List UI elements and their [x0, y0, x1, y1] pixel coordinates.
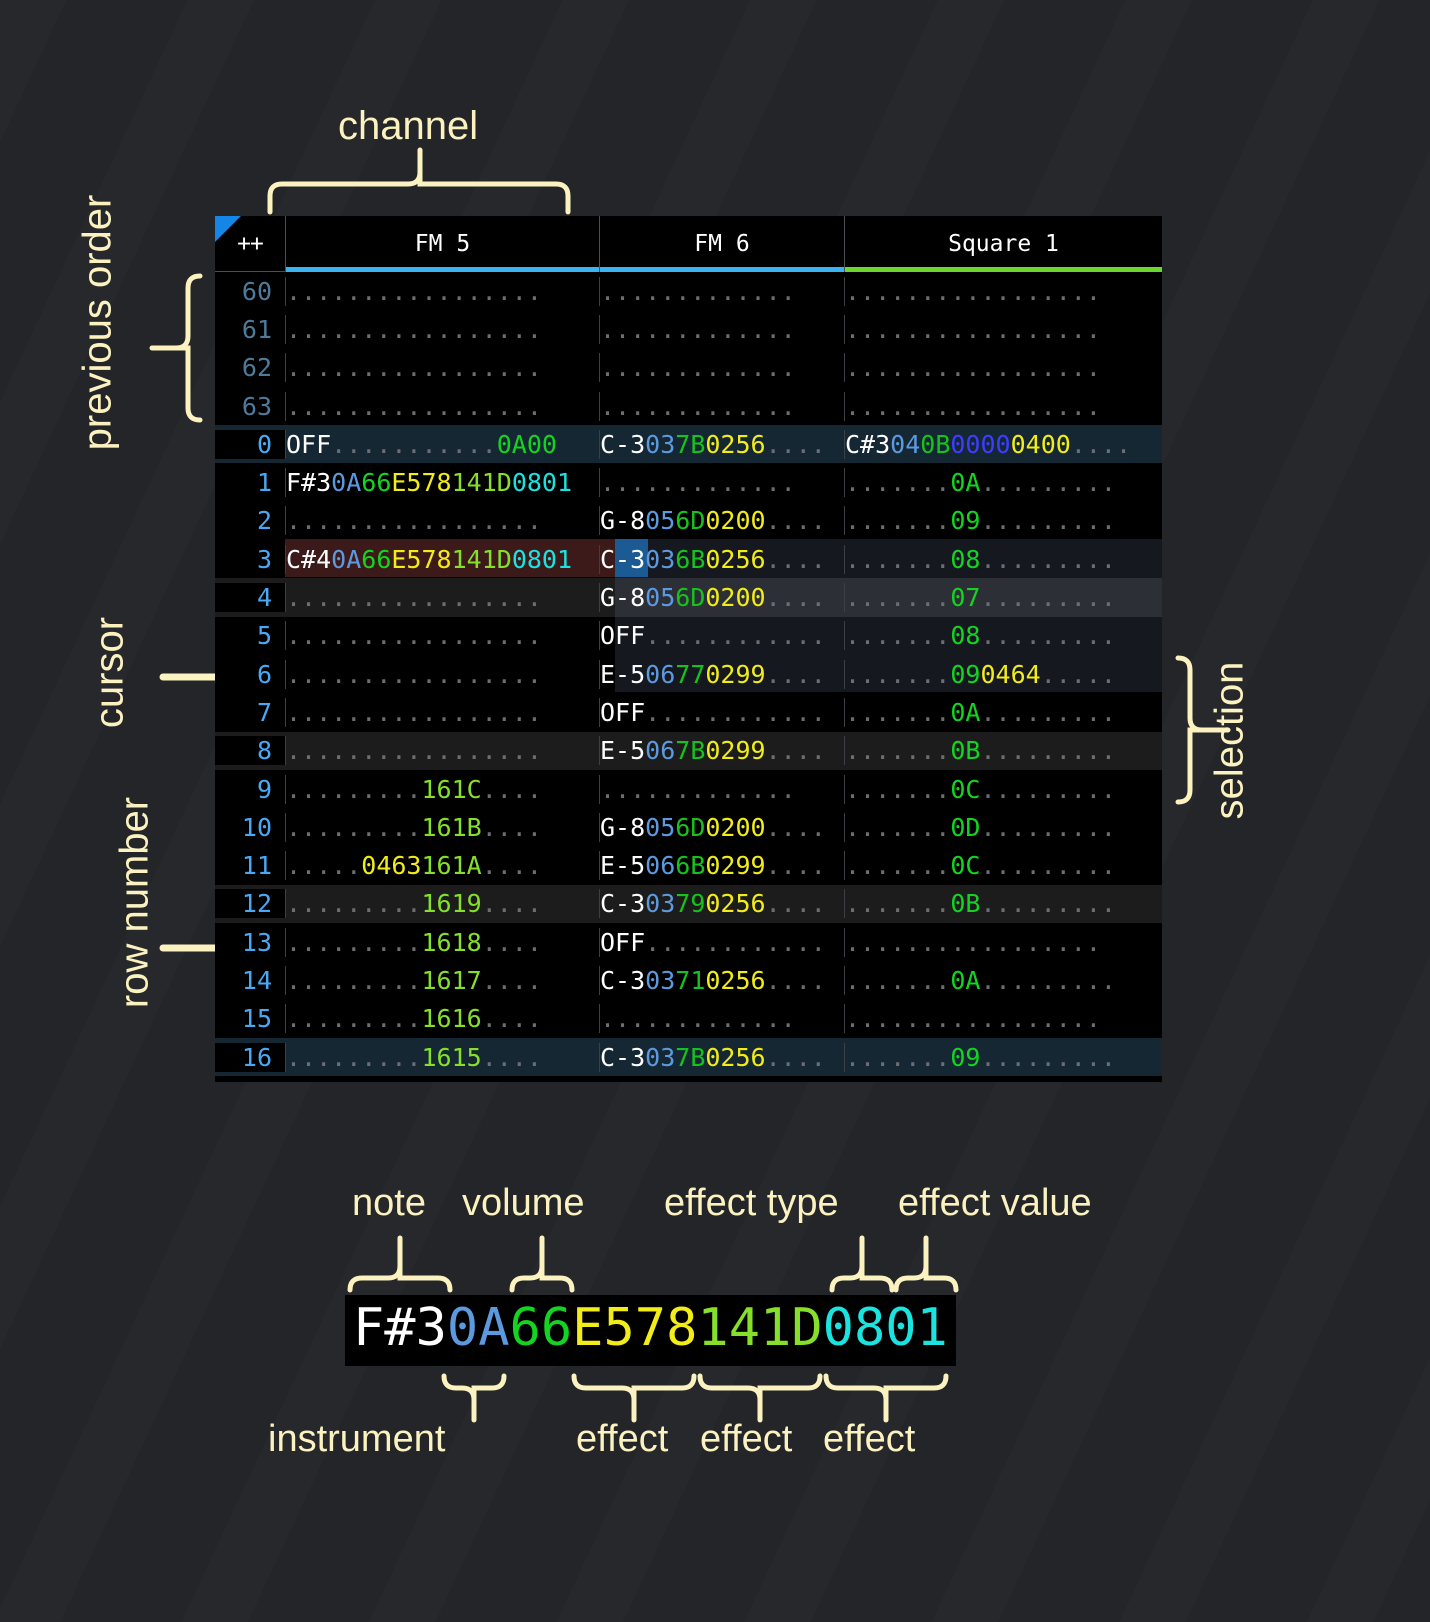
pattern-segment: E578 — [391, 545, 451, 574]
pattern-segment: ......... — [980, 506, 1115, 535]
channel-name-label: FM 6 — [694, 231, 749, 257]
empty-cell-dots: ................. — [286, 736, 542, 765]
pattern-cell[interactable]: ................. — [844, 392, 1162, 421]
pattern-segment: 06 — [645, 851, 675, 880]
pattern-segment: E-5 — [600, 660, 645, 689]
legend-volume: 66 — [510, 1298, 573, 1358]
empty-cell-dots: ................. — [845, 277, 1101, 306]
pattern-cell[interactable]: C-303710256.... — [599, 966, 844, 995]
pattern-segment: .... — [766, 736, 826, 765]
pattern-segment: OFF — [286, 430, 331, 459]
pattern-segment: ....... — [845, 545, 950, 574]
pattern-cell[interactable]: .....0463161A.... — [285, 851, 599, 880]
empty-cell-dots: ................. — [286, 392, 542, 421]
pattern-cell[interactable]: OFF............ — [599, 621, 844, 650]
pattern-row[interactable]: 9.........161C........................0C… — [215, 770, 1162, 808]
pattern-cell[interactable]: .........1618.... — [285, 928, 599, 957]
pattern-segment: .... — [766, 813, 826, 842]
empty-cell-dots: ................. — [286, 353, 542, 382]
channel-header-square1[interactable]: Square 1 — [844, 216, 1162, 272]
pattern-segment: C-3 — [600, 545, 645, 574]
row-number: 5 — [215, 621, 285, 650]
row-number: 62 — [215, 353, 285, 382]
empty-cell-dots: ................. — [286, 660, 542, 689]
pattern-cell[interactable]: OFF............ — [599, 928, 844, 957]
pattern-segment: 0200 — [705, 583, 765, 612]
row-number: 2 — [215, 506, 285, 535]
pattern-cell[interactable]: ................. — [844, 315, 1162, 344]
pattern-segment: 77 — [675, 660, 705, 689]
pattern-segment: 0C — [950, 851, 980, 880]
pattern-segment: ......... — [286, 775, 421, 804]
pattern-segment: 0A — [331, 545, 361, 574]
pattern-segment: 1617 — [421, 966, 481, 995]
pattern-segment: .... — [766, 1043, 826, 1072]
empty-cell-dots: ................. — [845, 1004, 1101, 1033]
pattern-segment: 0B — [950, 736, 980, 765]
pattern-segment: 1616 — [421, 1004, 481, 1033]
pattern-cell[interactable]: C#40A66E578141D0801 — [285, 545, 599, 574]
pattern-row[interactable]: 63......................................… — [215, 387, 1162, 425]
pattern-row[interactable]: 60......................................… — [215, 272, 1162, 310]
pattern-segment: 0A — [950, 966, 980, 995]
pattern-segment: C-3 — [600, 966, 645, 995]
row-number: 16 — [215, 1043, 285, 1072]
pattern-cell[interactable]: C-3036B0256.... — [599, 545, 844, 574]
annotation-selection: selection — [1208, 641, 1253, 841]
pattern-segment: .... — [766, 506, 826, 535]
pattern-segment: 09 — [950, 506, 980, 535]
pattern-cell[interactable]: E-5067B0299.... — [599, 736, 844, 765]
pattern-cell[interactable]: ............. — [599, 775, 844, 804]
row-number: 1 — [215, 468, 285, 497]
pattern-cell[interactable]: C-3037B0256.... — [599, 430, 844, 459]
pattern-segment: 0000 — [950, 430, 1010, 459]
pattern-segment: ......... — [980, 813, 1115, 842]
pattern-cell[interactable]: .......0A......... — [844, 698, 1162, 727]
pattern-segment: 05 — [645, 813, 675, 842]
pattern-row[interactable]: 12.........1619....C-303790256..........… — [215, 885, 1162, 923]
corner-triangle-icon — [215, 216, 241, 242]
pattern-cell[interactable]: ............. — [599, 392, 844, 421]
pattern-cell[interactable]: ................. — [285, 506, 599, 535]
pattern-segment: 07 — [950, 583, 980, 612]
pattern-cell[interactable]: OFF...........0A00 — [285, 430, 599, 459]
pattern-cell[interactable]: .........161B.... — [285, 813, 599, 842]
pattern-segment: ......... — [980, 966, 1115, 995]
legend-note: F#3 — [353, 1298, 447, 1358]
pattern-segment: 05 — [645, 506, 675, 535]
pattern-segment: 0801 — [512, 545, 572, 574]
pattern-segment: ......... — [286, 1043, 421, 1072]
pattern-segment: OFF — [600, 928, 645, 957]
row-number: 10 — [215, 813, 285, 842]
pattern-segment: .... — [482, 1043, 542, 1072]
pattern-segment: 03 — [645, 966, 675, 995]
pattern-row[interactable]: 11.....0463161A....E-5066B0299..........… — [215, 846, 1162, 884]
pattern-row[interactable]: 2.................G-8056D0200...........… — [215, 502, 1162, 540]
pattern-segment: ......... — [980, 851, 1115, 880]
pattern-cell[interactable]: C-303790256.... — [599, 889, 844, 918]
legend-effect-3: 0801 — [823, 1298, 948, 1358]
pattern-row[interactable]: 8.................E-5067B0299...........… — [215, 732, 1162, 770]
pattern-cell[interactable]: C#3040B00000400.... — [844, 430, 1162, 459]
pattern-segment: 71 — [675, 966, 705, 995]
pattern-segment: 08 — [950, 621, 980, 650]
pattern-cell[interactable]: ................. — [844, 1004, 1162, 1033]
pattern-segment: 66 — [361, 545, 391, 574]
pattern-segment: ....... — [845, 775, 950, 804]
pattern-segment: 03 — [645, 430, 675, 459]
pattern-segment: .... — [766, 545, 826, 574]
pattern-cell[interactable]: .......0B......... — [844, 889, 1162, 918]
pattern-cell[interactable]: ................. — [844, 928, 1162, 957]
annotation-effect-type: effect type — [664, 1182, 839, 1225]
pattern-segment: ......... — [980, 1043, 1115, 1072]
pattern-cell[interactable]: .........1619.... — [285, 889, 599, 918]
pattern-cell[interactable]: .......0D......... — [844, 813, 1162, 842]
pattern-segment: ......... — [286, 1004, 421, 1033]
pattern-segment: ....... — [845, 813, 950, 842]
pattern-segment: ..... — [1041, 660, 1116, 689]
pattern-segment: 0200 — [705, 506, 765, 535]
pattern-segment: 03 — [645, 1043, 675, 1072]
pattern-segment: .... — [766, 851, 826, 880]
pattern-segment: 0299 — [705, 660, 765, 689]
pattern-segment: 0A — [950, 698, 980, 727]
empty-cell-dots: ................. — [286, 621, 542, 650]
pattern-cell[interactable]: ................. — [285, 698, 599, 727]
pattern-segment: ....... — [845, 506, 950, 535]
pattern-segment: E-5 — [600, 851, 645, 880]
pattern-segment: ....... — [845, 621, 950, 650]
pattern-segment: 09 — [950, 660, 980, 689]
legend-example-row: F#30A66E578141D0801 — [345, 1295, 956, 1366]
row-number: 60 — [215, 277, 285, 306]
pattern-cell[interactable]: G-8056D0200.... — [599, 506, 844, 535]
pattern-segment: E578 — [391, 468, 451, 497]
pattern-segment: 0256 — [705, 889, 765, 918]
pattern-cell[interactable]: ................. — [285, 736, 599, 765]
annotation-effect-3: effect — [823, 1418, 915, 1461]
pattern-row[interactable]: 0OFF...........0A00C-3037B0256....C#3040… — [215, 425, 1162, 463]
pattern-segment: ....... — [845, 583, 950, 612]
pattern-segment: 0D — [950, 813, 980, 842]
pattern-cell[interactable]: ............. — [599, 468, 844, 497]
pattern-segment: OFF — [600, 621, 645, 650]
pattern-segment: ....... — [845, 889, 950, 918]
pattern-row[interactable]: 62......................................… — [215, 349, 1162, 387]
pattern-cell[interactable]: .......0A......... — [844, 468, 1162, 497]
pattern-segment: ........... — [331, 430, 497, 459]
pattern-segment: .... — [482, 928, 542, 957]
pattern-segment: 0A — [331, 468, 361, 497]
row-number: 11 — [215, 851, 285, 880]
legend-instrument: 0A — [447, 1298, 510, 1358]
pattern-segment: ............ — [645, 698, 826, 727]
pattern-segment: C-3 — [600, 430, 645, 459]
pattern-segment: 6D — [675, 583, 705, 612]
pattern-segment: ............ — [645, 621, 826, 650]
pattern-segment: ....... — [845, 966, 950, 995]
pattern-segment: .... — [482, 889, 542, 918]
pattern-segment: 0A — [950, 468, 980, 497]
pattern-cell[interactable]: .........161C.... — [285, 775, 599, 804]
pattern-cell[interactable]: ................. — [285, 660, 599, 689]
empty-cell-dots: ............. — [600, 353, 796, 382]
annotation-channel: channel — [338, 104, 478, 149]
pattern-row[interactable]: 16.........1615....C-3037B0256..........… — [215, 1038, 1162, 1076]
row-number: 6 — [215, 660, 285, 689]
pattern-row[interactable]: 13.........1618....OFF..................… — [215, 923, 1162, 961]
pattern-segment: .... — [482, 813, 542, 842]
pattern-segment: OFF — [600, 698, 645, 727]
pattern-segment: ..... — [286, 851, 361, 880]
pattern-segment: 0256 — [705, 545, 765, 574]
pattern-segment: 08 — [950, 545, 980, 574]
pattern-segment: G-8 — [600, 583, 645, 612]
pattern-segment: 0256 — [705, 966, 765, 995]
pattern-cell[interactable]: .........1615.... — [285, 1043, 599, 1072]
pattern-cell[interactable]: ................. — [844, 277, 1162, 306]
pattern-segment: C-3 — [600, 889, 645, 918]
pattern-segment: ....... — [845, 851, 950, 880]
pattern-cell[interactable]: ................. — [285, 353, 599, 382]
pattern-cell[interactable]: .......0A......... — [844, 966, 1162, 995]
pattern-segment: 03 — [645, 889, 675, 918]
row-number: 13 — [215, 928, 285, 957]
pattern-segment: 0B — [920, 430, 950, 459]
empty-cell-dots: ............. — [600, 277, 796, 306]
pattern-cell[interactable]: .......09......... — [844, 506, 1162, 535]
row-number: 15 — [215, 1004, 285, 1033]
row-number: 8 — [215, 736, 285, 765]
pattern-cell[interactable]: ................. — [285, 315, 599, 344]
pattern-segment: .... — [766, 430, 826, 459]
pattern-segment: 79 — [675, 889, 705, 918]
pattern-segment: 0299 — [705, 851, 765, 880]
pattern-cell[interactable]: ................. — [285, 583, 599, 612]
pattern-segment: .... — [766, 889, 826, 918]
annotation-effect-2: effect — [700, 1418, 792, 1461]
pattern-segment: ......... — [980, 468, 1115, 497]
pattern-cell[interactable]: ................. — [285, 621, 599, 650]
pattern-segment: 0801 — [512, 468, 572, 497]
pattern-segment: ....... — [845, 736, 950, 765]
row-number: 9 — [215, 775, 285, 804]
empty-cell-dots: ............. — [600, 775, 796, 804]
pattern-segment: 7B — [675, 736, 705, 765]
pattern-segment: E-5 — [600, 736, 645, 765]
pattern-segment: ......... — [980, 889, 1115, 918]
pattern-segment: 0463 — [361, 851, 421, 880]
empty-cell-dots: ............. — [600, 1004, 796, 1033]
channel-header-fm5[interactable]: FM 5 — [285, 216, 599, 272]
pattern-cell[interactable]: .........1616.... — [285, 1004, 599, 1033]
pattern-segment: 0256 — [705, 430, 765, 459]
pattern-cell[interactable]: G-8056D0200.... — [599, 813, 844, 842]
pattern-cell[interactable]: OFF............ — [599, 698, 844, 727]
pattern-cell[interactable]: .......0C......... — [844, 851, 1162, 880]
empty-cell-dots: ............. — [600, 315, 796, 344]
pattern-segment: F#3 — [286, 468, 331, 497]
pattern-segment: ....... — [845, 660, 950, 689]
row-number: 12 — [215, 889, 285, 918]
pattern-segment: 7B — [675, 1043, 705, 1072]
pattern-segment: ......... — [980, 583, 1115, 612]
pattern-cell[interactable]: E-5066B0299.... — [599, 851, 844, 880]
pattern-segment: .... — [482, 851, 542, 880]
pattern-segment: ......... — [286, 966, 421, 995]
pattern-segment: .... — [482, 966, 542, 995]
annotation-previous-order: previous order — [76, 163, 121, 483]
pattern-row[interactable]: 15.........1616.........................… — [215, 1000, 1162, 1038]
annotation-instrument: instrument — [268, 1418, 445, 1461]
pattern-segment: ............ — [645, 928, 826, 957]
order-corner-cell[interactable]: ++ — [215, 216, 285, 272]
pattern-cell[interactable]: C-3037B0256.... — [599, 1043, 844, 1072]
pattern-row[interactable]: 14.........1617....C-303710256..........… — [215, 961, 1162, 999]
row-number: 0 — [215, 430, 285, 459]
pattern-cell[interactable]: .......08......... — [844, 545, 1162, 574]
pattern-segment: 0400 — [1011, 430, 1071, 459]
annotation-cursor: cursor — [88, 593, 133, 753]
row-number: 7 — [215, 698, 285, 727]
pattern-cell[interactable]: .........1617.... — [285, 966, 599, 995]
pattern-cell[interactable]: .......090464..... — [844, 660, 1162, 689]
empty-cell-dots: ................. — [845, 353, 1101, 382]
legend-effect-2: 141D — [697, 1298, 822, 1358]
pattern-segment: C#4 — [286, 545, 331, 574]
empty-cell-dots: ................. — [845, 315, 1101, 344]
pattern-cell[interactable]: ............. — [599, 1004, 844, 1033]
legend-effect-1: E578 — [572, 1298, 697, 1358]
pattern-cell[interactable]: ............. — [599, 315, 844, 344]
pattern-segment: .... — [766, 583, 826, 612]
pattern-cell[interactable]: .......07......... — [844, 583, 1162, 612]
pattern-segment: 0256 — [705, 1043, 765, 1072]
pattern-segment: .... — [482, 1004, 542, 1033]
pattern-segment: 1618 — [421, 928, 481, 957]
pattern-segment: ......... — [980, 736, 1115, 765]
pattern-segment: 6D — [675, 506, 705, 535]
pattern-segment: ......... — [980, 698, 1115, 727]
pattern-cell[interactable]: E-506770299.... — [599, 660, 844, 689]
empty-cell-dots: ................. — [286, 315, 542, 344]
empty-cell-dots: ................. — [845, 392, 1101, 421]
row-number: 3 — [215, 545, 285, 574]
pattern-segment: 66 — [361, 468, 391, 497]
channel-name-label: Square 1 — [948, 231, 1059, 257]
pattern-row[interactable]: 6.................E-506770299...........… — [215, 655, 1162, 693]
pattern-segment: 6B — [675, 851, 705, 880]
pattern-grid[interactable]: 60......................................… — [215, 272, 1162, 1076]
pattern-row[interactable]: 1F#30A66E578141D0801....................… — [215, 463, 1162, 501]
empty-cell-dots: ................. — [286, 583, 542, 612]
pattern-segment: 0299 — [705, 736, 765, 765]
pattern-segment: 7B — [675, 430, 705, 459]
pattern-cell[interactable]: ................. — [285, 392, 599, 421]
pattern-row[interactable]: 7.................OFF...................… — [215, 693, 1162, 731]
pattern-cell[interactable]: .......0C......... — [844, 775, 1162, 804]
pattern-segment: 04 — [890, 430, 920, 459]
pattern-cell[interactable]: ............. — [599, 277, 844, 306]
annotation-effect-1: effect — [576, 1418, 668, 1461]
pattern-segment: 0C — [950, 775, 980, 804]
empty-cell-dots: ............. — [600, 392, 796, 421]
pattern-segment: ....... — [845, 698, 950, 727]
pattern-segment: 06 — [645, 736, 675, 765]
pattern-segment: 6D — [675, 813, 705, 842]
pattern-segment: .... — [766, 966, 826, 995]
pattern-segment: 03 — [645, 545, 675, 574]
pattern-segment: 161C — [421, 775, 481, 804]
annotation-note: note — [352, 1182, 426, 1225]
pattern-cell[interactable]: G-8056D0200.... — [599, 583, 844, 612]
channel-header-fm6[interactable]: FM 6 — [599, 216, 844, 272]
pattern-segment: .... — [766, 660, 826, 689]
pattern-segment: .... — [482, 775, 542, 804]
annotation-row-number: row number — [113, 763, 158, 1043]
pattern-cell[interactable]: F#30A66E578141D0801 — [285, 468, 599, 497]
pattern-segment: ......... — [980, 545, 1115, 574]
pattern-cell[interactable]: .......09......... — [844, 1043, 1162, 1072]
annotation-volume: volume — [462, 1182, 585, 1225]
pattern-row[interactable]: 61......................................… — [215, 310, 1162, 348]
pattern-row[interactable]: 5.................OFF...................… — [215, 617, 1162, 655]
pattern-segment: 0200 — [705, 813, 765, 842]
pattern-segment: 05 — [645, 583, 675, 612]
pattern-segment: ......... — [286, 928, 421, 957]
pattern-segment: 06 — [645, 660, 675, 689]
pattern-segment: G-8 — [600, 813, 645, 842]
pattern-segment: C-3 — [600, 1043, 645, 1072]
empty-cell-dots: ................. — [286, 506, 542, 535]
pattern-segment: 141D — [452, 468, 512, 497]
pattern-cell[interactable]: ............. — [599, 353, 844, 382]
pattern-segment: ......... — [980, 775, 1115, 804]
pattern-cell[interactable]: ................. — [844, 353, 1162, 382]
row-number: 4 — [215, 583, 285, 612]
pattern-segment: ......... — [286, 813, 421, 842]
row-number: 14 — [215, 966, 285, 995]
pattern-segment: ....... — [845, 468, 950, 497]
pattern-segment: ......... — [286, 889, 421, 918]
pattern-row[interactable]: 10.........161B....G-8056D0200..........… — [215, 808, 1162, 846]
empty-cell-dots: ................. — [286, 277, 542, 306]
pattern-row[interactable]: 3C#40A66E578141D0801C-3036B0256.........… — [215, 540, 1162, 578]
pattern-segment: C#3 — [845, 430, 890, 459]
pattern-segment: .... — [1071, 430, 1131, 459]
pattern-segment: 1615 — [421, 1043, 481, 1072]
channel-name-label: FM 5 — [415, 231, 470, 257]
row-number: 63 — [215, 392, 285, 421]
pattern-editor[interactable]: ++ FM 5 FM 6 Square 1 60................… — [215, 216, 1162, 1082]
pattern-segment: 141D — [452, 545, 512, 574]
pattern-cell[interactable]: ................. — [285, 277, 599, 306]
pattern-segment: 161A — [421, 851, 481, 880]
row-number: 61 — [215, 315, 285, 344]
channel-header-bar: ++ FM 5 FM 6 Square 1 — [215, 216, 1162, 272]
pattern-cell[interactable]: .......0B......... — [844, 736, 1162, 765]
empty-cell-dots: ............. — [600, 468, 796, 497]
pattern-segment: 6B — [675, 545, 705, 574]
pattern-segment: ......... — [980, 621, 1115, 650]
pattern-segment: G-8 — [600, 506, 645, 535]
pattern-cell[interactable]: .......08......... — [844, 621, 1162, 650]
annotation-effect-value: effect value — [898, 1182, 1092, 1225]
pattern-row[interactable]: 4.................G-8056D0200...........… — [215, 578, 1162, 616]
